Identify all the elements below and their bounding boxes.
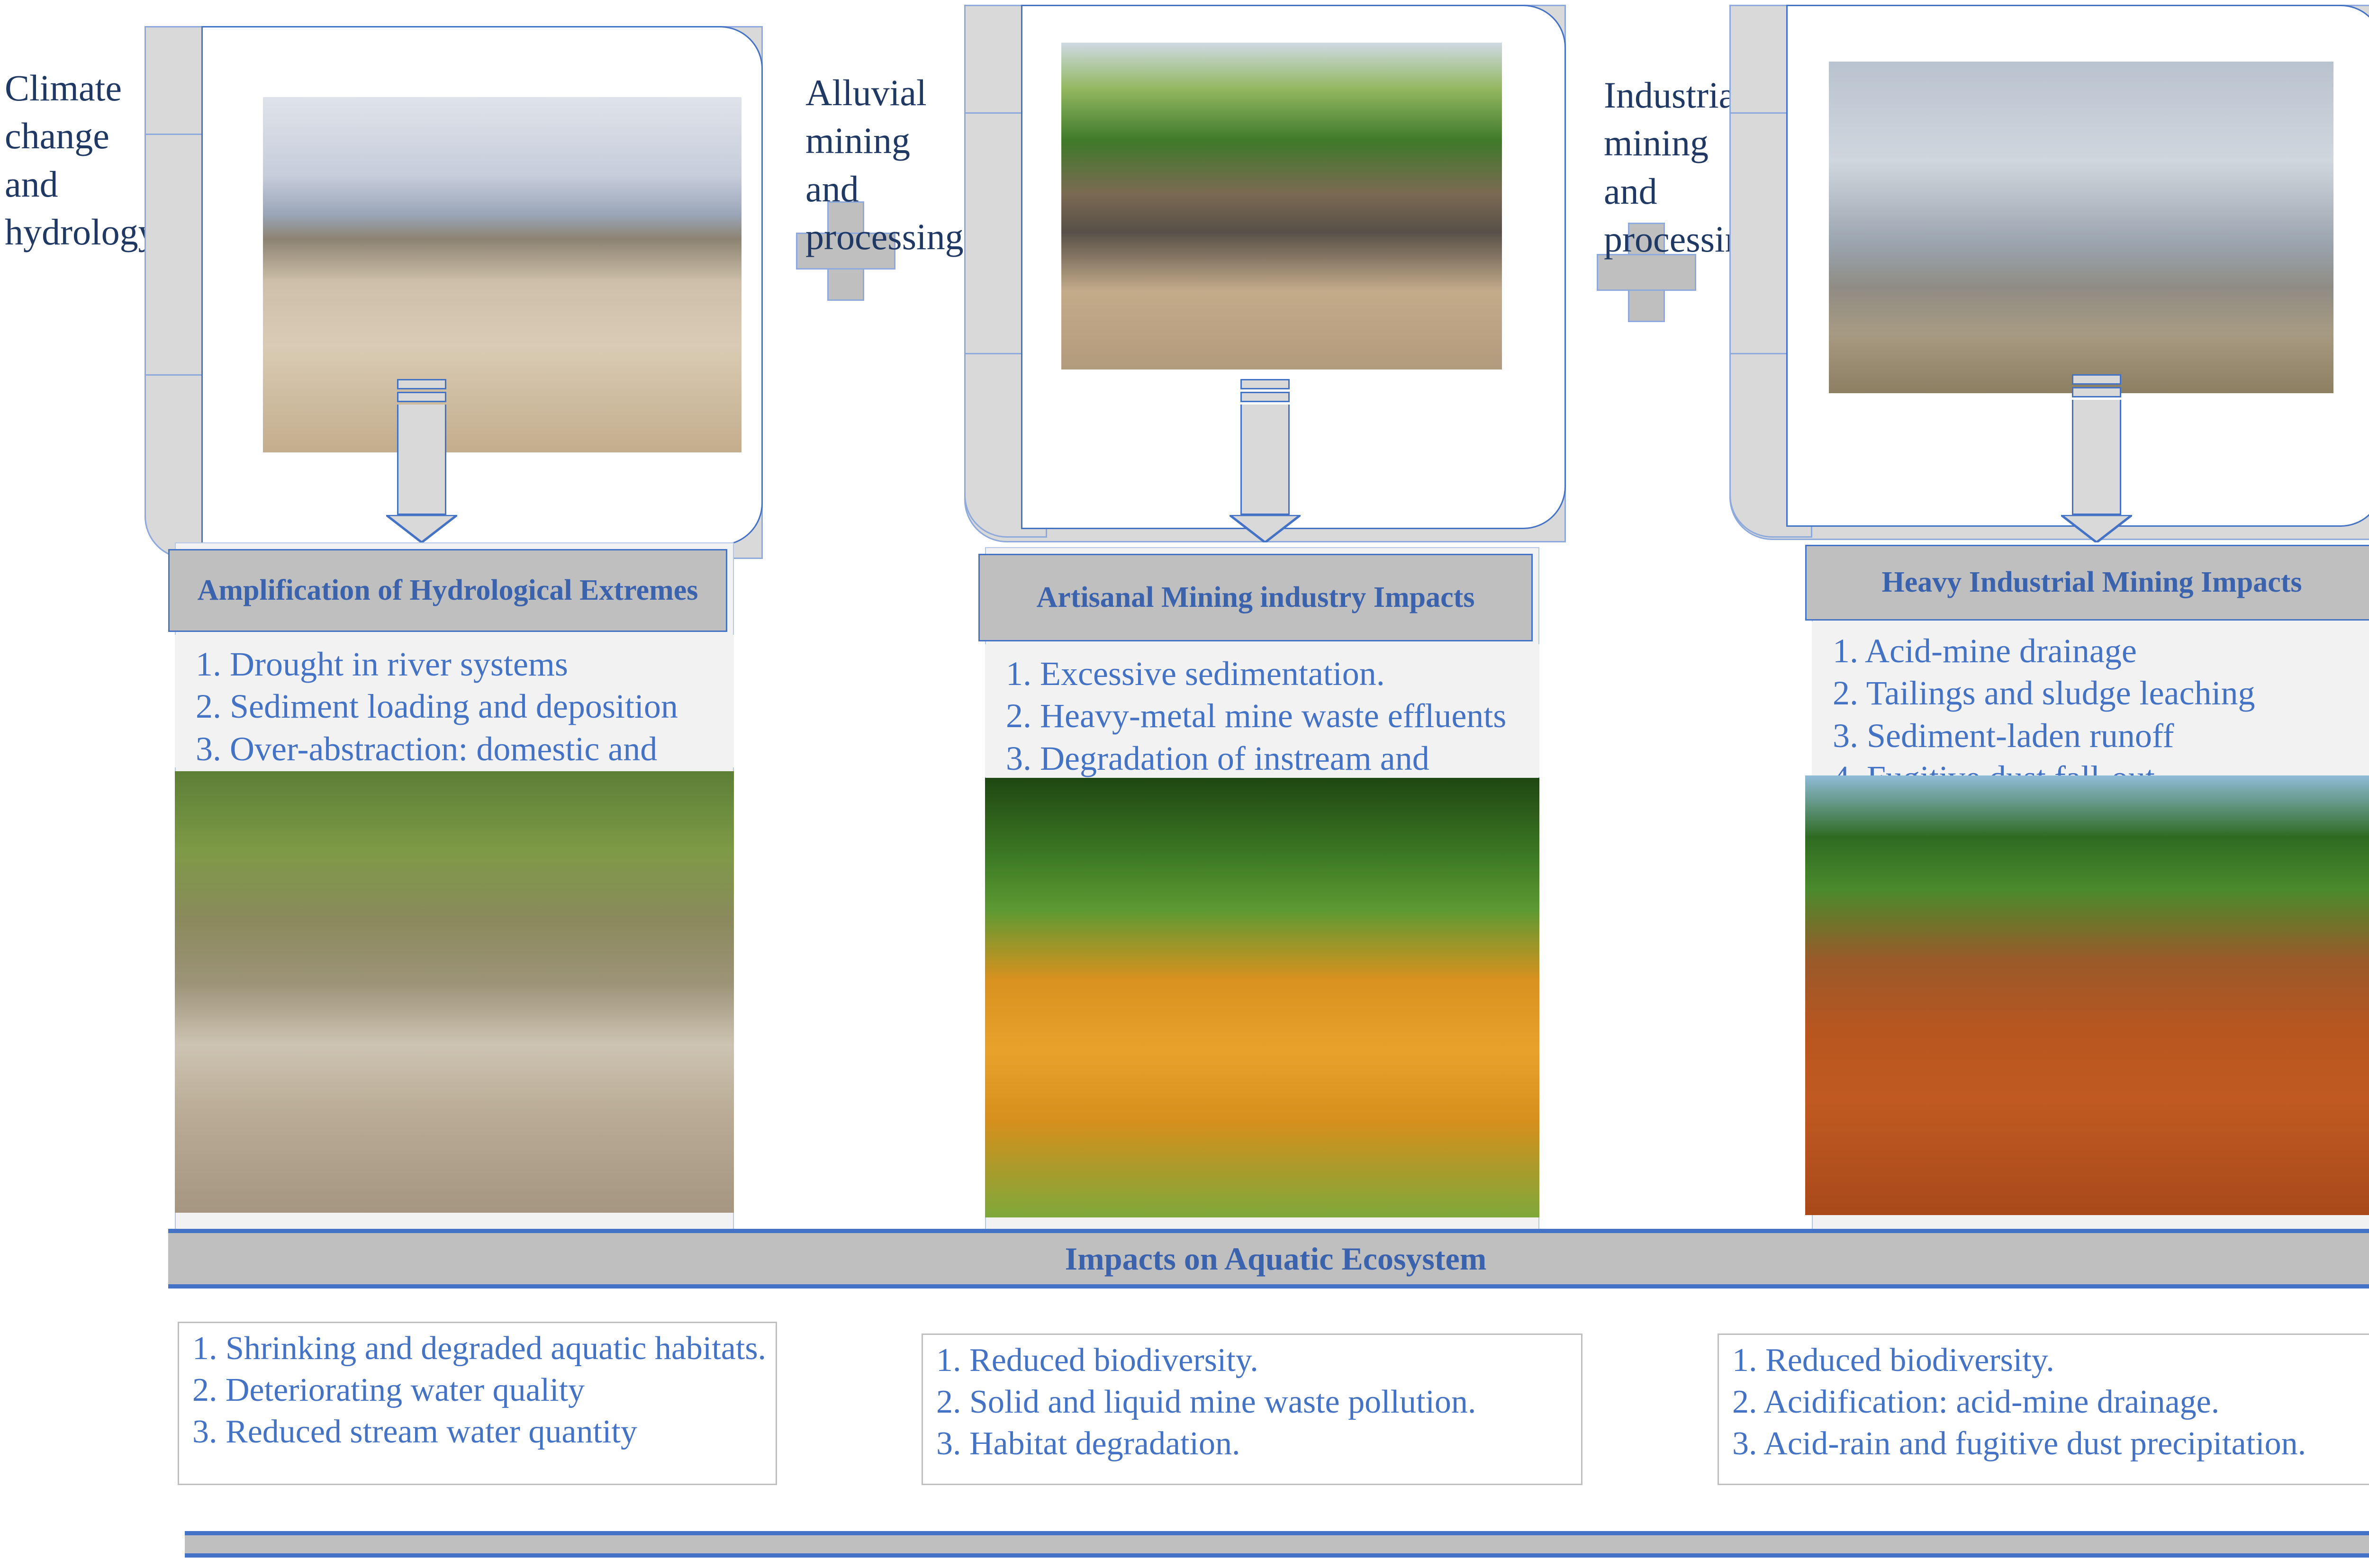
panel-header-hydrological[interactable]: Amplification of Hydrological Extremes [168,549,727,632]
industrial-plant-photo [1829,62,2333,393]
orange-polluted-stream-photo [985,778,1539,1217]
impact-panel-heavy-industrial: Heavy Industrial Mining Impacts 1. Acid-… [1805,545,2369,1232]
red-acid-mine-stream-photo [1805,775,2369,1215]
panel-items-heavy-industrial: 1. Acid-mine drainage 2. Tailings and sl… [1812,622,2369,775]
arrow-head [1230,515,1301,542]
panel-items-artisanal: 1. Excessive sedimentation. 2. Heavy-met… [985,644,1539,777]
connector-arrow-3 [2061,374,2132,538]
drought-reservoir-photo [263,97,741,452]
arrow-shaft [2072,400,2121,515]
outcome-box-heavy-industrial: 1. Reduced biodiversity. 2. Acidificatio… [1718,1334,2369,1485]
arrow-head [2061,515,2132,542]
alluvial-mining-photo [1061,43,1502,369]
arrow-cap-mid [2072,387,2121,397]
bottom-summary-bar [185,1531,2369,1558]
impact-panel-hydrological: Amplification of Hydrological Extremes 1… [168,542,727,1232]
diagram-canvas: Climate change and hydrology Alluvial mi… [0,0,2369,1568]
source-label-alluvial: Alluvial mining and processing [805,69,967,261]
arrow-head [386,515,457,542]
arrow-head-svg [1230,515,1301,542]
arrow-shaft [1240,405,1290,515]
panel-header-artisanal[interactable]: Artisanal Mining industry Impacts [978,554,1533,641]
arrow-cap-mid [1240,392,1290,402]
source-card-industrial [1729,5,2369,540]
outcome-box-artisanal: 1. Reduced biodiversity. 2. Solid and li… [922,1334,1582,1485]
aquatic-ecosystem-band: Impacts on Aquatic Ecosystem [168,1229,2369,1289]
impact-panel-artisanal: Artisanal Mining industry Impacts 1. Exc… [978,547,1533,1232]
arrow-cap-top [2072,374,2121,385]
aquatic-ecosystem-label: Impacts on Aquatic Ecosystem [1065,1240,1487,1278]
panel-header-heavy-industrial[interactable]: Heavy Industrial Mining Impacts [1805,545,2369,621]
arrow-head-svg [2061,515,2132,542]
source-label-climate: Climate change and hydrology [5,64,147,256]
connector-arrow-2 [1230,379,1301,542]
arrow-head-svg [386,515,457,542]
arrow-shaft [397,405,446,515]
connector-arrow-1 [386,379,457,542]
panel-items-hydrological: 1. Drought in river systems 2. Sediment … [175,635,734,767]
arrow-cap-top [397,379,446,389]
dry-riverbed-women-photo [175,771,734,1213]
arrow-cap-top [1240,379,1290,389]
outcome-box-hydrological: 1. Shrinking and degraded aquatic habita… [178,1322,777,1485]
arrow-cap-mid [397,392,446,402]
